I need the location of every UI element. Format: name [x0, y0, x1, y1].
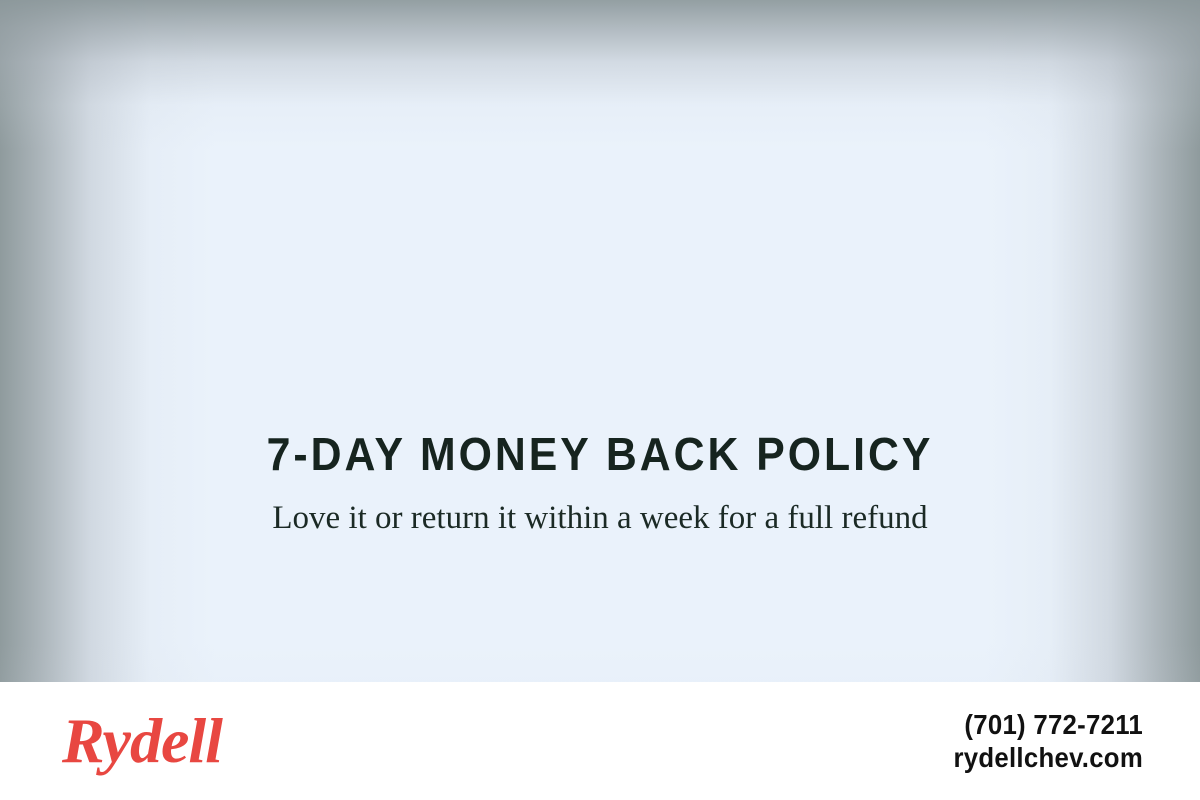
footer-bar: Rydell (701) 772-7211 rydellchev.com — [0, 682, 1200, 800]
page-subtitle: Love it or return it within a week for a… — [250, 497, 950, 540]
page-title: 7-DAY MONEY BACK POLICY — [42, 430, 1158, 478]
phone-number[interactable]: (701) 772-7211 — [953, 708, 1143, 741]
hero-section: 7-DAY MONEY BACK POLICY Love it or retur… — [0, 0, 1200, 682]
contact-block: (701) 772-7211 rydellchev.com — [937, 708, 1143, 774]
promo-poster: 7-DAY MONEY BACK POLICY Love it or retur… — [0, 0, 1200, 800]
website-url[interactable]: rydellchev.com — [953, 741, 1143, 774]
rydell-logo[interactable]: Rydell — [62, 709, 222, 773]
